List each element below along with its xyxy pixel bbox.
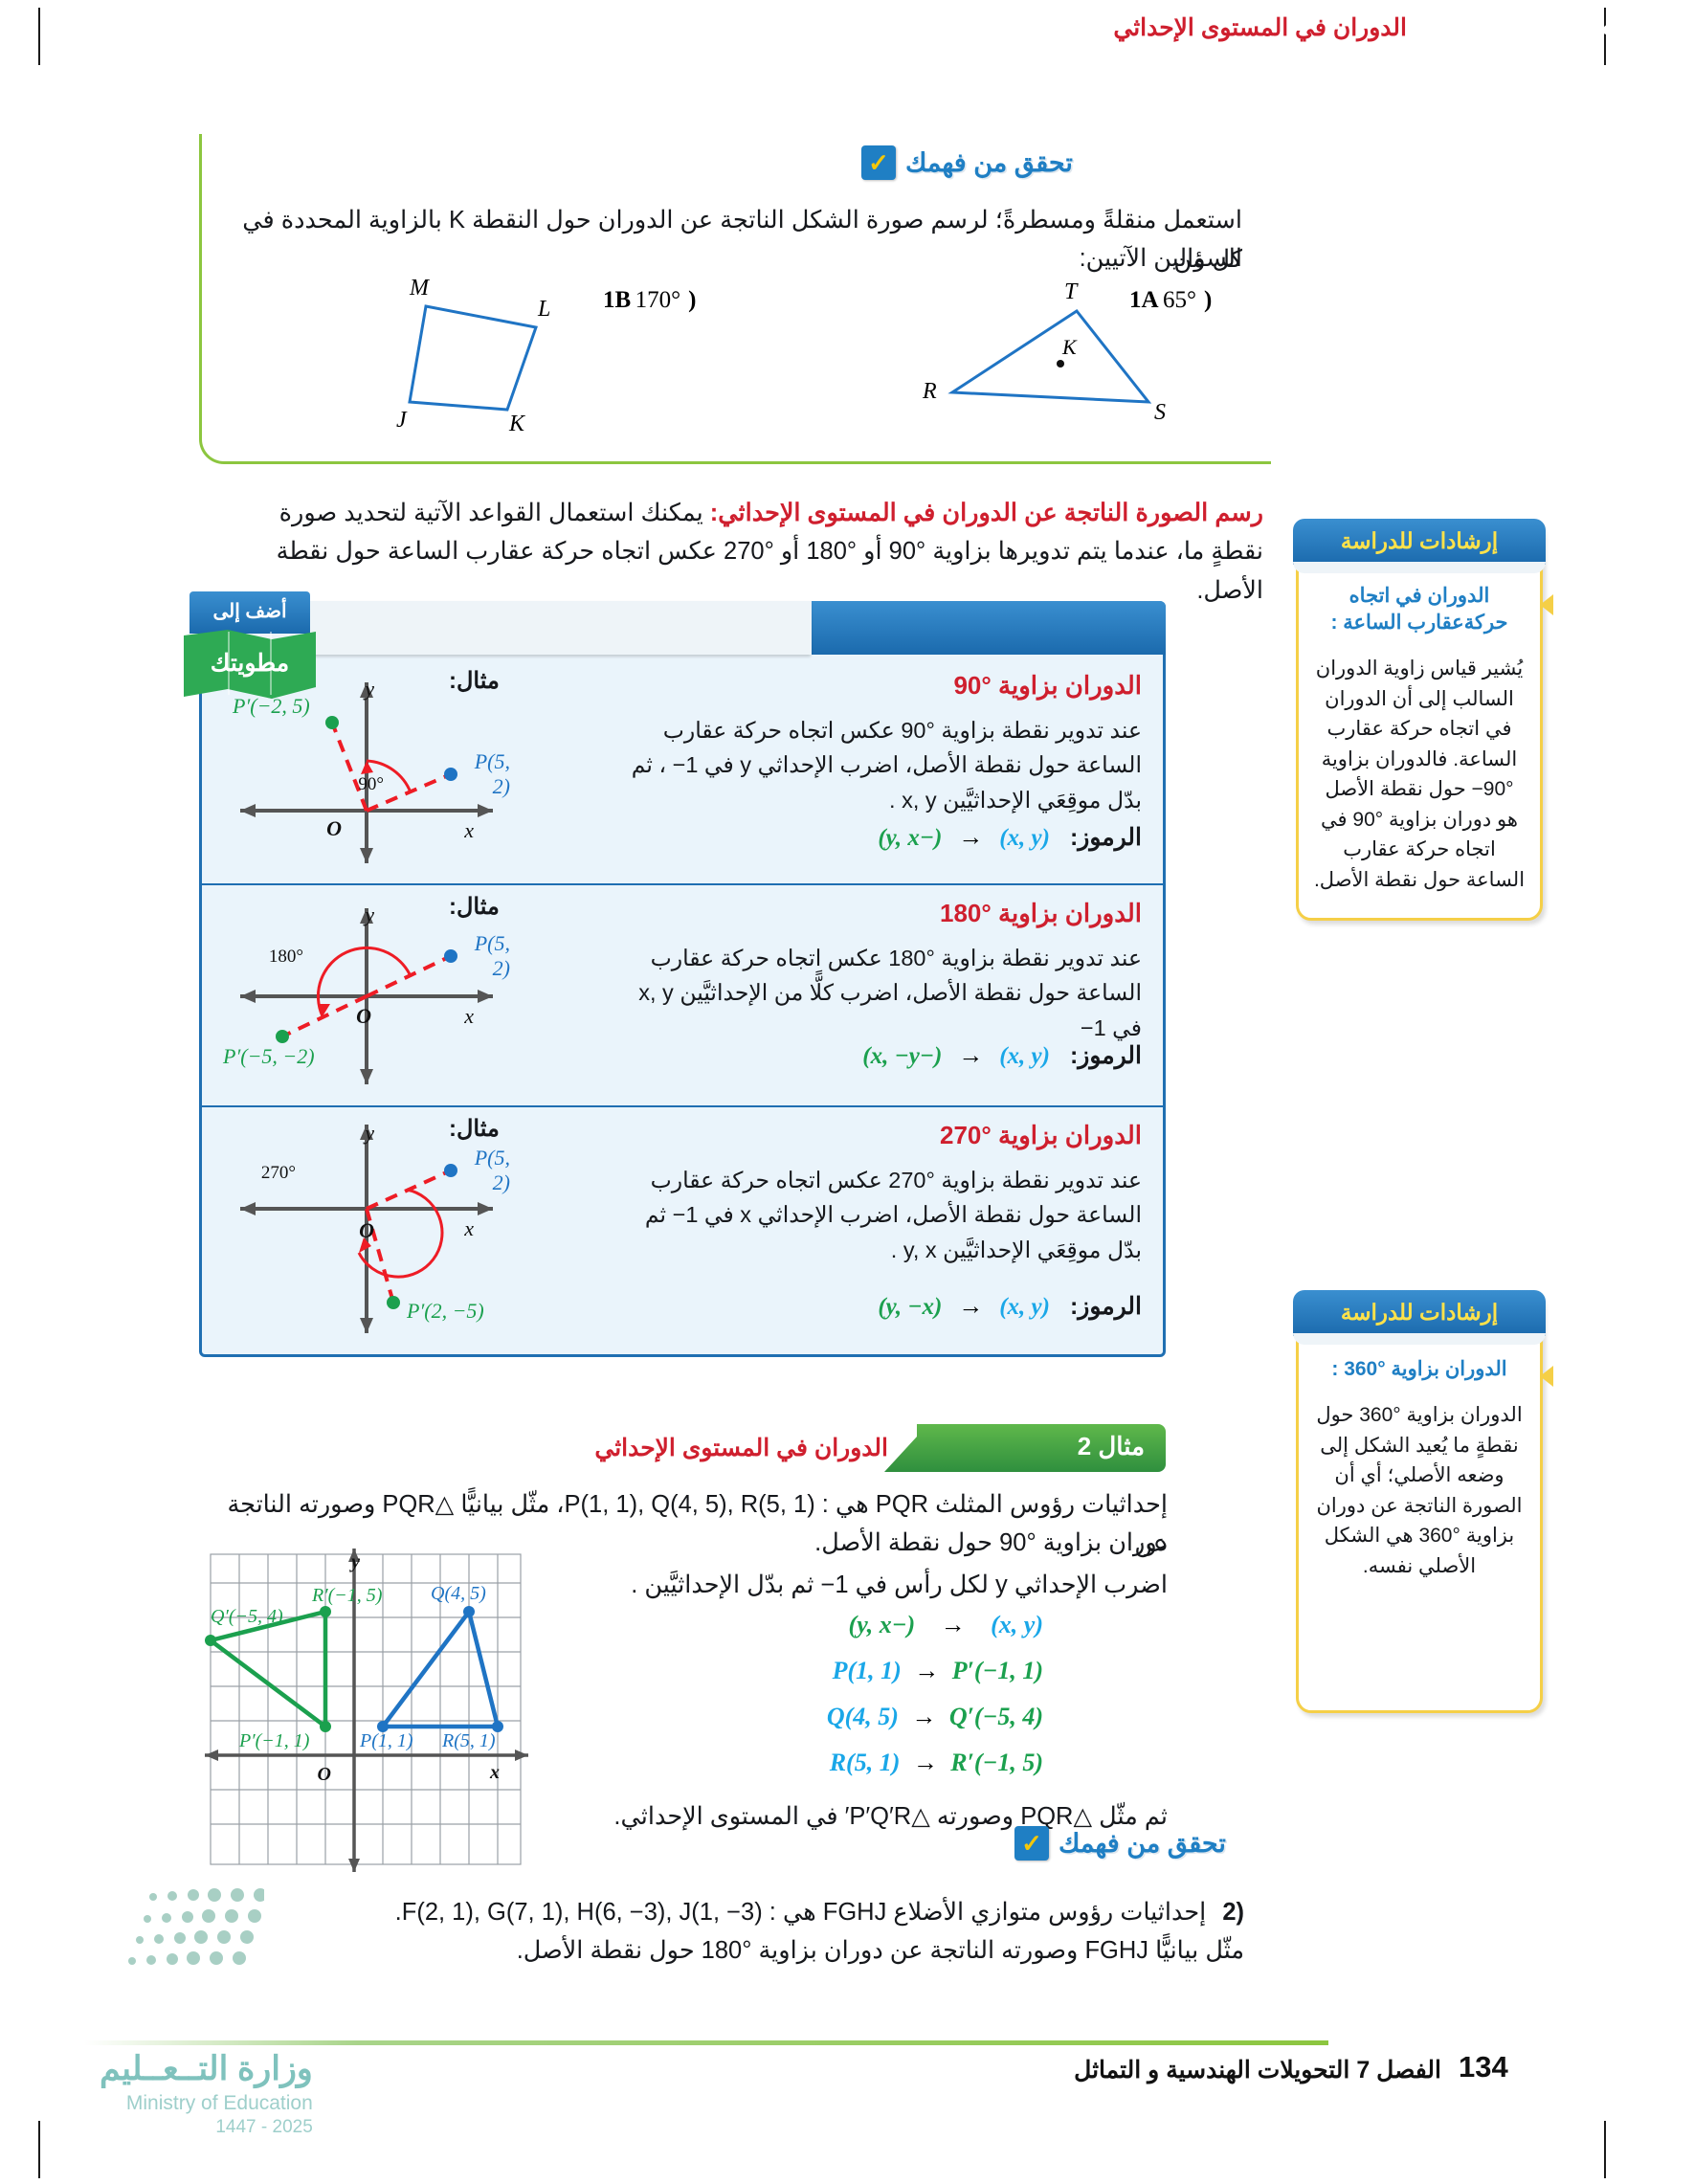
figure-1a-caption: (1A 65° [1129,287,1212,314]
svg-text:x: x [463,1216,474,1240]
example2-mapping-r-arrow: → [904,1748,947,1777]
study-tip-box-360: إرشادات للدراسة الدوران بزاوية °360 : ال… [1296,1290,1543,1713]
figure-1b-label-M: M [410,276,429,301]
concept-row-180-point-image: P′(−5, −2) [223,1044,315,1069]
example2-graph: y x O Q(4, 5) R′(−1, 5) Q′(−5, 4) P′(−1,… [199,1543,534,1878]
concept-box: الدوران بزاوية °90 عند تدوير نقطة بزاوية… [199,601,1166,1357]
example2-mapping-row-p: P(1, 1) → P′(−1, 1) [660,1656,1043,1685]
foldable-crease-2 [270,632,272,695]
example2-graph-label-Rp: R′(−1, 5) [312,1585,382,1607]
svg-text:x: x [463,1004,474,1028]
concept-row-180-rule-src: (x, y) [999,1043,1050,1069]
svg-text:y: y [363,1121,374,1145]
concept-row-180-symbols-label: الرموز: [1070,1042,1142,1069]
crop-mark-bottom-left [38,2121,40,2178]
decorative-dot-grid [101,1887,264,1973]
figure-1a-label-T: T [1064,279,1077,305]
intro-paragraph-line1: رسم الصورة الناتجة عن الدوران في المستوى… [211,494,1263,533]
study-tip-box-360-title: الدوران بزاوية °360 : [1312,1356,1527,1383]
figure-1a-label-R: R [923,379,937,405]
example2-mapping-q-dst: Q′(−5, 4) [949,1703,1043,1730]
concept-row-90: الدوران بزاوية °90 عند تدوير نقطة بزاوية… [202,657,1163,883]
example2-label: مثال 2 [1078,1432,1145,1461]
svg-text:y: y [363,903,374,926]
example2-mapping-header-dst: (−y, x) [849,1611,916,1638]
example2-sub-title: الدوران في المستوى الإحداثي [594,1434,888,1462]
intro-rest-line1: يمكنك استعمال القواعد الآتية لتحديد صورة [279,500,703,526]
figure-1a-label-S: S [1154,400,1166,426]
example2-mapping-p-arrow: → [905,1656,947,1685]
foldable-crease-1 [228,632,230,695]
concept-row-180-point-p: P(5, 2) [462,931,510,981]
crop-mark-top-left [38,8,40,65]
figure-1b: M L J K [402,287,622,459]
check-understanding-top-header: تحقق من فهمك ✓ [861,145,1073,180]
study-tip-box-clockwise-header: إرشادات للدراسة [1293,519,1546,565]
study-tip-arrow-2 [1540,1366,1553,1387]
svg-text:90°: 90° [358,774,384,794]
concept-row-180-arrow: → [958,1040,983,1069]
concept-row-180-symbols: الرموز: (x, y) → (−x, −y) [862,1040,1142,1070]
example2-mapping-header-src: (x, y) [991,1611,1043,1638]
intro-red-lead: رسم الصورة الناتجة عن الدوران في المستوى… [710,500,1263,526]
svg-text:y: y [363,677,374,701]
svg-text:y: y [349,1551,360,1572]
check-icon-bottom: ✓ [1014,1826,1049,1861]
example2-graph-label-R: R(5, 1) [442,1730,496,1752]
concept-row-270-graph: y x O 270° P(5, 2) P′(2, −5) [223,1115,510,1349]
concept-box-main-title: مفهوم أساسي [1505,10,1671,43]
figure-1b-caption: (1B 170° [603,287,696,314]
check-understanding-top-title: تحقق من فهمك [905,148,1073,178]
concept-row-90-title: الدوران بزاوية °90 [953,671,1142,701]
svg-text:180°: 180° [269,947,303,967]
example2-graph-label-Q: Q(4, 5) [431,1583,486,1605]
figure-1a-label-K: K [1062,335,1077,360]
check-bottom-line1: (2 إحداثيات رؤوس متوازي الأضلاع FGHJ هي … [287,1893,1244,1932]
svg-text:O: O [356,1004,371,1028]
svg-text:270°: 270° [261,1163,296,1183]
concept-row-270-symbols-label: الرموز: [1070,1293,1142,1320]
foldable-tab-body-label: مطويتك [184,630,316,697]
concept-row-90-rule-src: (x, y) [999,825,1050,851]
example2-mapping-header: (x, y) → (−y, x) [660,1610,1043,1639]
example2-mapping-p-dst: P′(−1, 1) [952,1657,1043,1684]
example2-line3: اضرب الإحداثي y لكل رأس في 1− ثم بدّل ال… [536,1566,1168,1605]
concept-box-sub-title: الدوران في المستوى الإحداثي [1113,13,1407,42]
concept-row-270-title: الدوران بزاوية °270 [940,1121,1142,1150]
concept-row-180-title: الدوران بزاوية °180 [940,899,1142,928]
concept-row-90-body: عند تدوير نقطة بزاوية °90 عكس اتجاه حركة… [606,713,1142,817]
ministry-logo-year: 2025 - 1447 [100,2117,313,2138]
concept-row-270-rule-src: (x, y) [999,1294,1050,1320]
check-icon: ✓ [861,145,896,180]
example2-mapping-q-arrow: → [903,1702,945,1731]
example2-mapping-p-src: P(1, 1) [833,1657,902,1684]
study-tip-box-clockwise: إرشادات للدراسة الدوران في اتجاه حركةعقا… [1296,519,1543,921]
svg-text:O: O [326,816,342,840]
ministry-logo: وزارة التــعــليم Ministry of Education … [100,2050,313,2138]
example2-mapping-header-arrow: → [920,1610,987,1639]
example2-mapping-row-q: Q(4, 5) → Q′(−5, 4) [660,1702,1043,1731]
page-number: 134 [1459,2050,1508,2084]
concept-row-90-arrow: → [958,822,983,851]
example2-graph-label-Qp: Q′(−5, 4) [211,1606,283,1628]
svg-text:x: x [463,818,474,842]
study-tip-box-360-text: الدوران بزاوية °360 حول نقطةٍ ما يُعيد ا… [1312,1400,1527,1581]
concept-row-270-point-image: P′(2, −5) [407,1299,484,1324]
check-bottom-number: (2 [1222,1899,1244,1926]
concept-row-180-graph: y x O 180° P(5, 2) P′(−5, −2) [223,893,510,1101]
study-tip-box-clockwise-text: يُشير قياس زاوية الدوران السالب إلى أن ا… [1312,654,1527,895]
concept-row-180-body: عند تدوير نقطة بزاوية °180 عكس اتجاه حرك… [606,941,1142,1045]
example2-banner: مثال 2 الدوران في المستوى الإحداثي [308,1424,1166,1472]
svg-text:x: x [489,1762,500,1783]
figure-1a-angle: 65° [1163,287,1196,313]
concept-box-header-bar [199,601,1166,655]
example2-mapping-r-dst: R′(−1, 5) [950,1749,1043,1776]
concept-row-270-body: عند تدوير نقطة بزاوية °270 عكس اتجاه حرك… [606,1163,1142,1267]
example2-mapping-q-src: Q(4, 5) [827,1703,899,1730]
example2-mapping-r-src: R(5, 1) [830,1749,901,1776]
concept-row-90-symbols-label: الرموز: [1070,824,1142,851]
study-tip-arrow-1 [1540,594,1553,615]
foldable-tab-body: مطويتك [184,630,316,699]
concept-row-270: الدوران بزاوية °270 عند تدوير نقطة بزاوي… [202,1105,1163,1354]
foldable-tab-top-label: أضف إلى [189,591,310,634]
crop-mark-bottom-right [1604,2121,1606,2178]
intro-paragraph-line2: نقطةٍ ما، عندما يتم تدويرها بزاوية °90 أ… [211,532,1263,612]
concept-row-270-rule-dst: (y, −x) [878,1294,942,1320]
concept-row-270-symbols: الرموز: (x, y) → (y, −x) [878,1291,1142,1321]
example2-graph-label-P: P(1, 1) [360,1730,413,1752]
foldable-tab: أضف إلى مطويتك [182,591,314,704]
concept-row-270-point-p: P(5, 2) [462,1146,510,1195]
figure-1b-label-K: K [509,412,524,437]
figure-1b-angle: 170° [635,287,681,313]
svg-text:O: O [318,1764,331,1785]
figure-1b-label-L: L [538,297,550,323]
concept-row-90-symbols: الرموز: (x, y) → (−y, x) [878,822,1142,852]
check-understanding-bottom-title: تحقق من فهمك [1059,1829,1226,1859]
study-tip-box-clockwise-title: الدوران في اتجاه حركةعقارب الساعة : [1312,583,1527,637]
concept-row-270-arrow: → [958,1291,983,1320]
chapter-line: الفصل 7 التحويلات الهندسية و التماثل [1059,2056,1441,2084]
check-bottom-line2: مثّل بيانيًّا FGHJ وصورته الناتجة عن دور… [287,1931,1244,1971]
concept-row-180-rule-dst: (−x, −y) [862,1043,942,1069]
check-bottom-text1: إحداثيات رؤوس متوازي الأضلاع FGHJ هي : F… [395,1899,1207,1926]
ministry-logo-english: Ministry of Education [100,2092,313,2115]
check-understanding-prompt-line2: السؤالين الآتيين: [218,239,1242,279]
figure-1b-label-J: J [396,408,407,434]
concept-row-180: الدوران بزاوية °180 عند تدوير نقطة بزاوي… [202,883,1163,1105]
example2-mapping-row-r: R(5, 1) → R′(−1, 5) [660,1748,1043,1777]
concept-row-90-rule-dst: (−y, x) [878,825,942,851]
footer-rule [84,2040,1328,2045]
example2-graph-label-Pp: P′(−1, 1) [239,1730,309,1752]
svg-text:O: O [359,1218,374,1242]
ministry-logo-arabic: وزارة التــعــليم [100,2050,313,2088]
concept-row-90-point-p: P(5, 2) [462,749,510,799]
study-tip-box-360-header: إرشادات للدراسة [1293,1290,1546,1336]
check-understanding-bottom-header: تحقق من فهمك ✓ [1014,1826,1226,1861]
